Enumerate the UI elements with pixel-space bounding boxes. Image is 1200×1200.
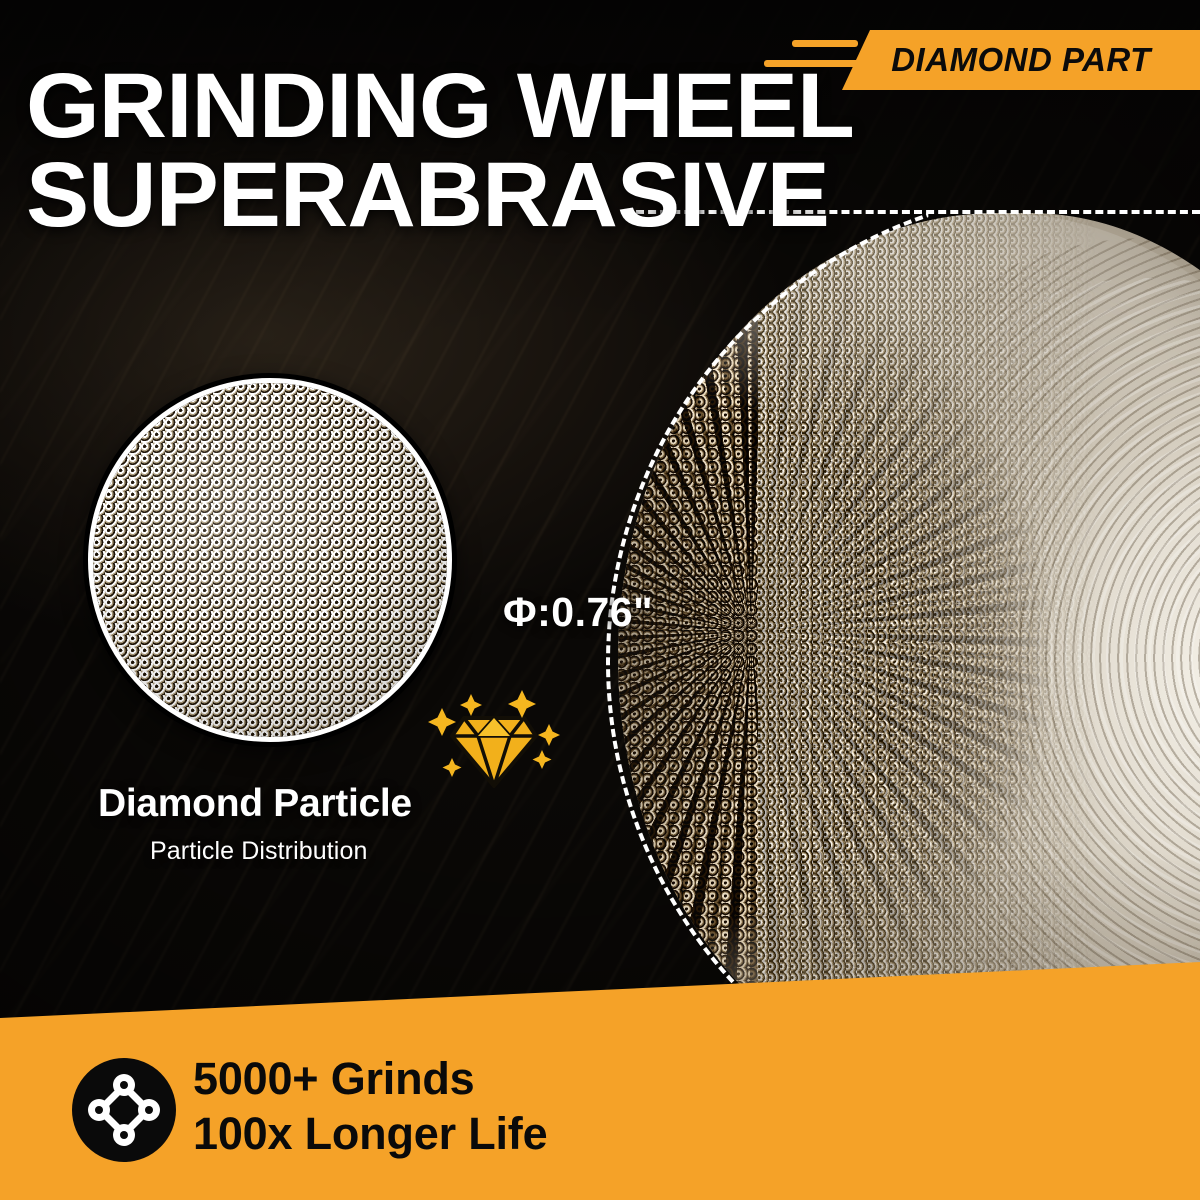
headline-block: GRINDING WHEEL SUPERABRASIVE [26,62,886,240]
footer-line-1: 5000+ Grinds [193,1052,547,1107]
product-feature-banner: Φ:0.76" [0,0,1200,1200]
speed-line-bottom [764,60,860,67]
speed-line-top [792,40,858,47]
particle-shading-overlay [93,383,447,737]
particle-caption-subtitle: Particle Distribution [150,837,480,866]
headline-line-1: GRINDING WHEEL [26,62,912,151]
diameter-label: Φ:0.76" [503,589,653,636]
headline-line-2: SUPERABRASIVE [26,151,912,240]
particle-magnifier-circle [88,378,452,742]
footer-line-2: 100x Longer Life [193,1107,547,1162]
diamond-part-badge: DIAMOND PART [842,30,1200,90]
footer-text-block: 5000+ Grinds 100x Longer Life [193,1052,547,1162]
diamond-gem-icon [424,684,564,794]
diamond-part-badge-label: DIAMOND PART [891,41,1151,79]
particle-caption-title: Diamond Particle [98,782,518,826]
network-nodes-icon [72,1058,176,1162]
